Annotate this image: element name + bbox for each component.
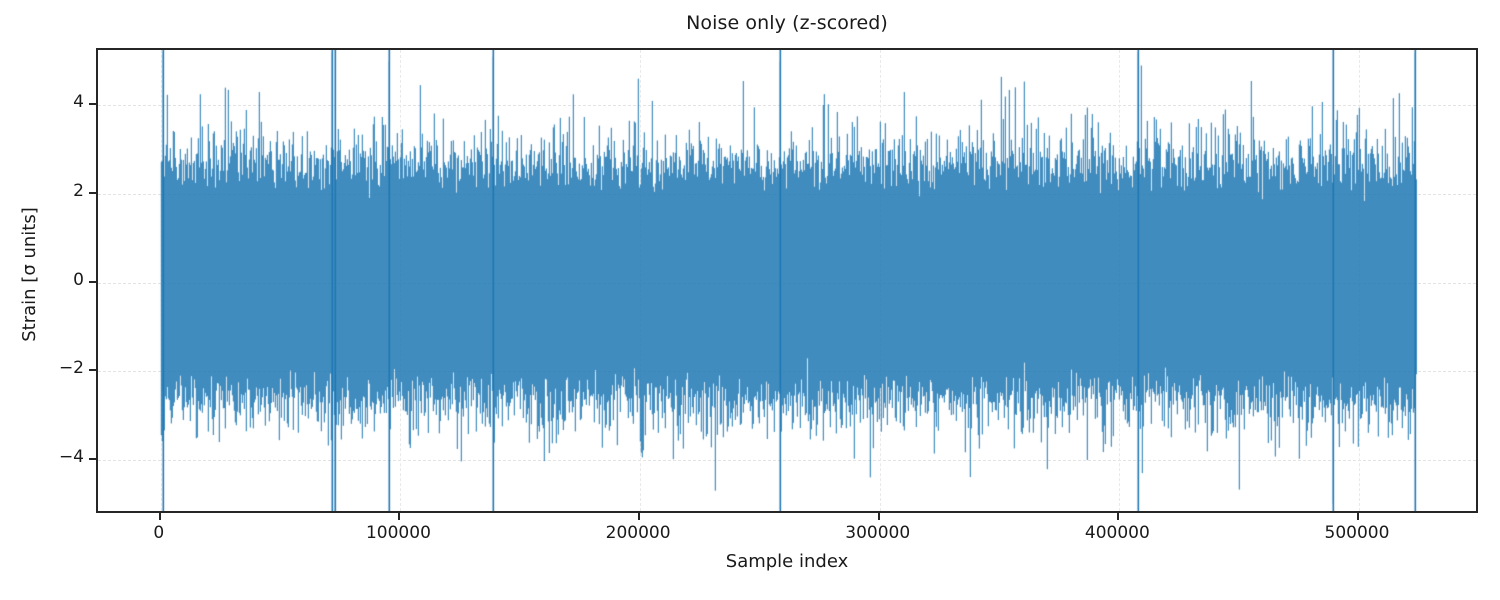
plot-area xyxy=(96,48,1478,513)
y-axis-label: Strain [σ units] xyxy=(19,42,40,507)
x-tick-label-1: 100000 xyxy=(366,523,431,543)
y-tick-mark-2 xyxy=(89,281,96,283)
x-tick-mark-3 xyxy=(878,513,880,520)
x-tick-mark-4 xyxy=(1117,513,1119,520)
x-tick-label-5: 500000 xyxy=(1325,523,1390,543)
y-tick-mark-4 xyxy=(89,103,96,105)
y-tick-mark-0 xyxy=(89,458,96,460)
x-tick-mark-0 xyxy=(159,513,161,520)
y-tick-mark-3 xyxy=(89,192,96,194)
x-tick-mark-1 xyxy=(398,513,400,520)
x-axis-label: Sample index xyxy=(96,551,1478,572)
x-tick-label-0: 0 xyxy=(153,523,164,543)
y-tick-label-1: −2 xyxy=(59,358,84,378)
chart-figure: Noise only (z-scored) −4−2024 0100000200… xyxy=(0,0,1500,600)
y-tick-label-3: 2 xyxy=(73,181,84,201)
noise-series-plot xyxy=(98,50,1478,513)
x-tick-mark-2 xyxy=(638,513,640,520)
x-tick-label-4: 400000 xyxy=(1085,523,1150,543)
y-tick-label-0: −4 xyxy=(59,447,84,467)
y-tick-label-2: 0 xyxy=(73,270,84,290)
y-tick-mark-1 xyxy=(89,369,96,371)
y-tick-label-4: 4 xyxy=(73,92,84,112)
x-tick-label-3: 300000 xyxy=(845,523,910,543)
chart-title: Noise only (z-scored) xyxy=(96,12,1478,34)
x-tick-label-2: 200000 xyxy=(606,523,671,543)
x-tick-mark-5 xyxy=(1357,513,1359,520)
